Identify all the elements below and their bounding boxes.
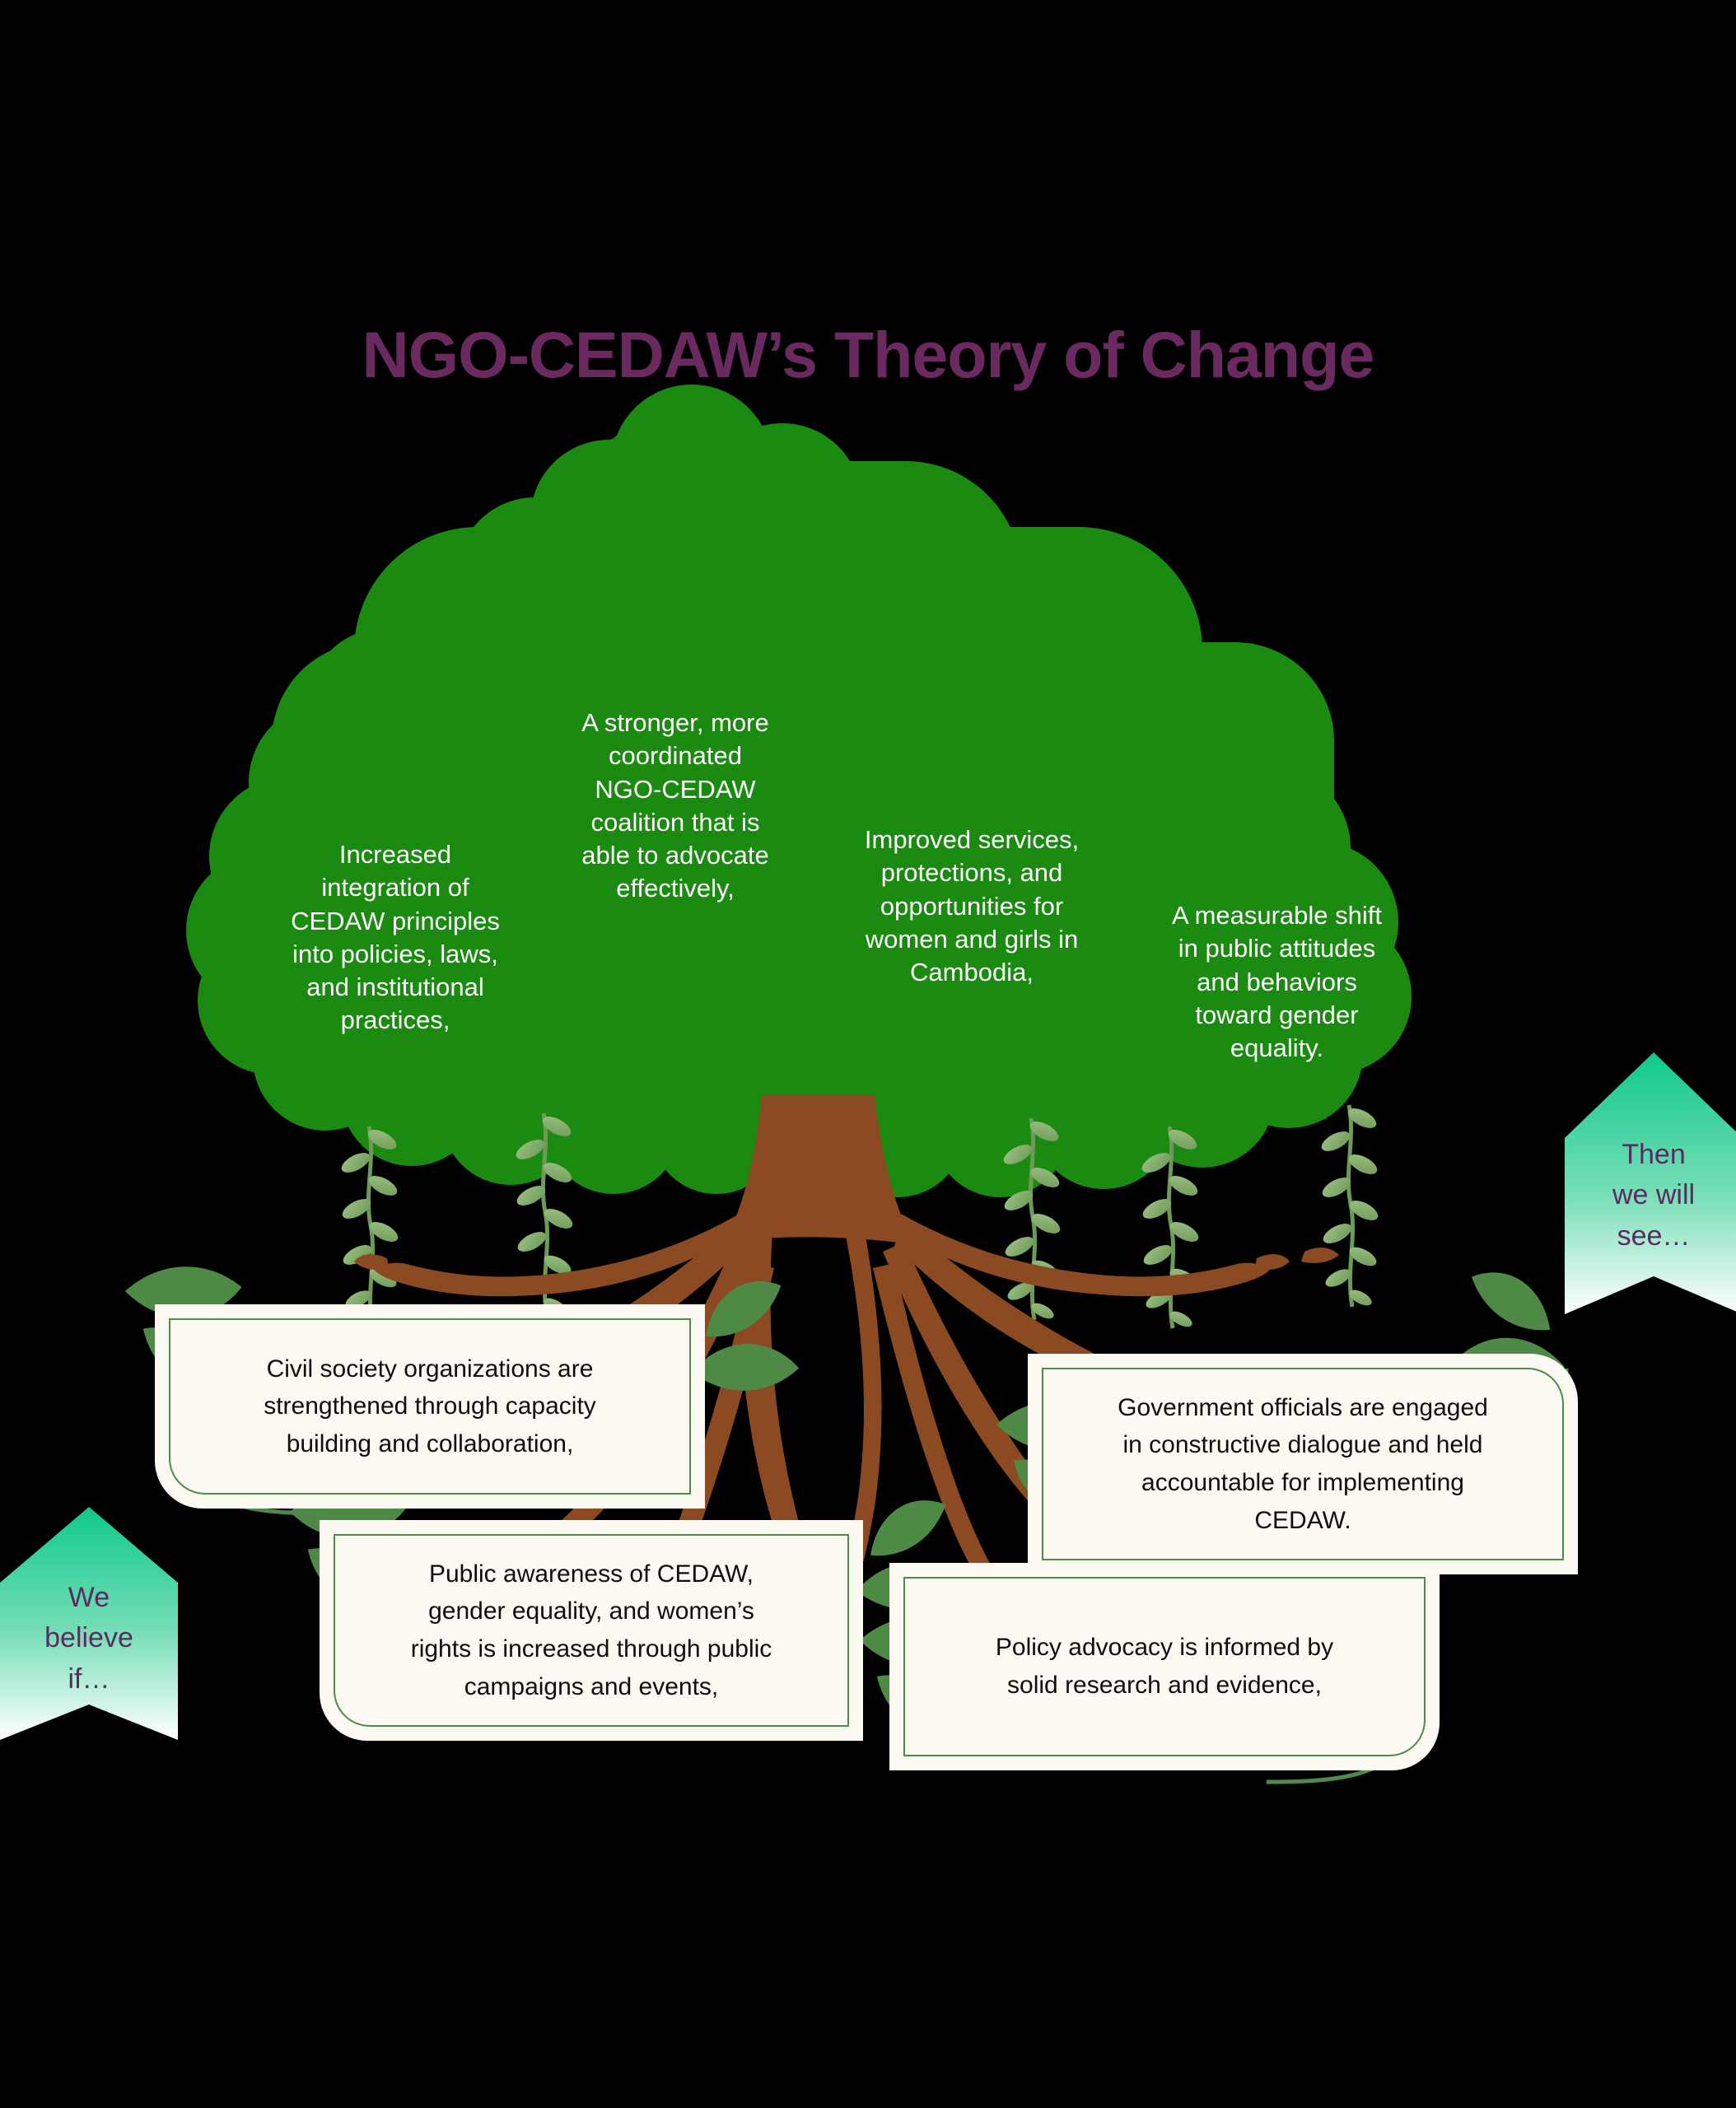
root-card-research-evidence: Policy advocacy is informed by solid res… (889, 1563, 1440, 1770)
tree-icon (0, 0, 1736, 2108)
card-text: Policy advocacy is informed by solid res… (978, 1629, 1351, 1704)
root-card-civil-society: Civil society organizations are strength… (155, 1304, 705, 1509)
then-we-will-see-arrow: Then we will see… (1565, 1052, 1736, 1314)
canopy-outcome-policy-integration: Increased integration of CEDAW principle… (272, 838, 519, 1038)
card-inner-border: Government officials are engaged in cons… (1042, 1368, 1564, 1560)
card-inner-border: Policy advocacy is informed by solid res… (903, 1577, 1426, 1756)
card-inner-border: Public awareness of CEDAW, gender equali… (334, 1534, 849, 1727)
we-believe-if-arrow: We believe if… (0, 1507, 178, 1740)
infographic-canvas: NGO-CEDAW’s Theory of Change (0, 0, 1736, 2108)
arrow-left-label: We believe if… (0, 1578, 178, 1700)
root-card-government-accountability: Government officials are engaged in cons… (1028, 1354, 1578, 1574)
card-text: Government officials are engaged in cons… (1099, 1389, 1506, 1539)
canopy-front (186, 385, 1412, 1197)
arrow-right-label: Then we will see… (1565, 1135, 1736, 1257)
canopy-outcome-attitudes: A measurable shift in public attitudes a… (1151, 899, 1402, 1065)
root-card-public-awareness: Public awareness of CEDAW, gender equali… (320, 1520, 863, 1741)
canopy-outcome-coalition: A stronger, more coordinated NGO-CEDAW c… (560, 707, 791, 906)
card-text: Public awareness of CEDAW, gender equali… (393, 1555, 791, 1705)
canopy-outcome-services: Improved services, protections, and oppo… (848, 823, 1095, 989)
card-inner-border: Civil society organizations are strength… (169, 1318, 691, 1495)
card-text: Civil society organizations are strength… (245, 1350, 614, 1463)
